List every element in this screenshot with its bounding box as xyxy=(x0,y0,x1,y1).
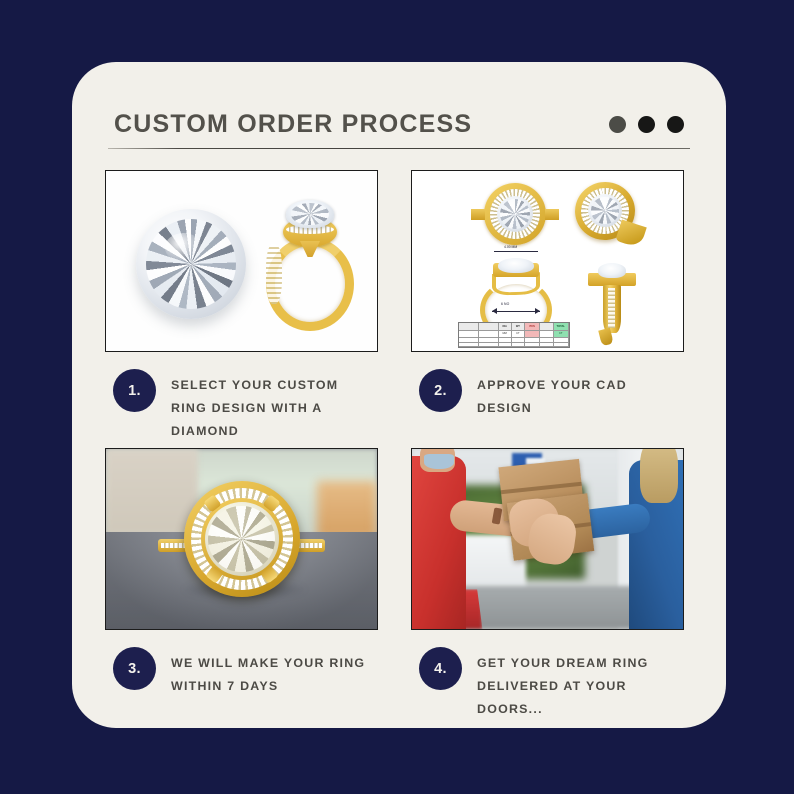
step-badge-4: 4. xyxy=(419,647,462,690)
table-row xyxy=(459,343,569,348)
face-mask-icon xyxy=(424,454,454,468)
header-divider xyxy=(108,148,690,149)
cad-front-stone xyxy=(598,263,626,278)
cell: PCS xyxy=(525,323,540,330)
photo-background-right xyxy=(317,481,377,539)
cell xyxy=(540,323,553,330)
cell: TOTAL xyxy=(554,323,569,330)
cell xyxy=(525,331,540,338)
table-row: DIAWT PCS TOTAL xyxy=(459,323,569,331)
ring-center-stone-shape xyxy=(286,200,334,228)
cad-top-arm-left xyxy=(471,209,485,220)
cad-spec-table: DIAWT PCS TOTAL MMCT CT xyxy=(458,322,570,348)
screenshot-stage: CUSTOM ORDER PROCESS xyxy=(0,0,794,794)
step-cell-4: 4. GET YOUR DREAM RING DELIVERED AT YOUR… xyxy=(411,448,684,726)
cad-top-arm-right xyxy=(545,209,559,220)
step-caption-4: 4. GET YOUR DREAM RING DELIVERED AT YOUR… xyxy=(411,630,684,726)
gold-ring-profile-graphic xyxy=(256,193,364,333)
cell xyxy=(479,343,499,347)
cell xyxy=(459,323,479,330)
dot-2-icon[interactable] xyxy=(638,116,655,133)
photo-background-left xyxy=(106,449,198,535)
step-text-3: WE WILL MAKE YOUR RING WITHIN 7 DAYS xyxy=(171,647,371,698)
courier-body xyxy=(412,456,466,629)
cell xyxy=(499,338,512,342)
cell xyxy=(479,331,499,338)
cell xyxy=(525,338,540,342)
cell xyxy=(540,343,553,347)
cell xyxy=(459,343,479,347)
custom-order-process-card: CUSTOM ORDER PROCESS xyxy=(72,62,726,728)
step-caption-3: 3. WE WILL MAKE YOUR RING WITHIN 7 DAYS xyxy=(105,630,378,726)
step-image-3[interactable] xyxy=(105,448,378,630)
step-image-4[interactable] xyxy=(411,448,684,630)
cell xyxy=(499,343,512,347)
cell xyxy=(554,343,569,347)
ring-halo-body xyxy=(184,481,300,597)
cell xyxy=(512,343,525,347)
steps-grid: 1. SELECT YOUR CUSTOM RING DESIGN WITH A… xyxy=(105,170,693,726)
loose-diamond-graphic xyxy=(136,209,246,319)
step-text-2: APPROVE YOUR CAD DESIGN xyxy=(477,369,677,420)
cad-dimension-label-top: 4.00 MM xyxy=(504,245,517,249)
window-dots xyxy=(609,116,684,133)
step-text-1: SELECT YOUR CUSTOM RING DESIGN WITH A DI… xyxy=(171,369,371,443)
cell xyxy=(512,338,525,342)
step-badge-2: 2. xyxy=(419,369,462,412)
cad-top-center-stone xyxy=(497,196,533,232)
step-caption-1: 1. SELECT YOUR CUSTOM RING DESIGN WITH A… xyxy=(105,352,378,448)
recipient-hair xyxy=(640,449,678,503)
cad-dimension-label-inner: 6 NO xyxy=(501,302,509,306)
cell xyxy=(554,338,569,342)
step-badge-1: 1. xyxy=(113,369,156,412)
cad-front-shank xyxy=(603,285,621,333)
cad-persp-stone xyxy=(588,194,622,227)
table-row: MMCT CT xyxy=(459,331,569,339)
card-header: CUSTOM ORDER PROCESS xyxy=(114,98,690,150)
cell xyxy=(479,323,499,330)
cell: CT xyxy=(512,331,525,338)
dot-3-icon[interactable] xyxy=(667,116,684,133)
step-caption-2: 2. APPROVE YOUR CAD DESIGN xyxy=(411,352,684,448)
cell: MM xyxy=(499,331,512,338)
cell xyxy=(459,331,479,338)
step-image-2[interactable]: 4.00 MM 6 NO xyxy=(411,170,684,352)
page-title: CUSTOM ORDER PROCESS xyxy=(114,110,472,139)
cad-top-view xyxy=(484,183,546,245)
cad-drawing-sheet: 4.00 MM 6 NO xyxy=(412,171,683,351)
cad-front-view xyxy=(584,259,640,347)
step-cell-2: 4.00 MM 6 NO xyxy=(411,170,684,448)
cell xyxy=(540,331,553,338)
step-text-4: GET YOUR DREAM RING DELIVERED AT YOUR DO… xyxy=(477,647,677,721)
cell xyxy=(540,338,553,342)
dot-1-icon[interactable] xyxy=(609,116,626,133)
cell: CT xyxy=(554,331,569,338)
step-cell-3: 3. WE WILL MAKE YOUR RING WITHIN 7 DAYS xyxy=(105,448,378,726)
delivery-handoff-photo xyxy=(412,449,683,629)
cell: WT xyxy=(512,323,525,330)
step-badge-3: 3. xyxy=(113,647,156,690)
step-image-1[interactable] xyxy=(105,170,378,352)
step-cell-1: 1. SELECT YOUR CUSTOM RING DESIGN WITH A… xyxy=(105,170,378,448)
cad-dimension-line-inner xyxy=(492,311,540,312)
cad-persp-shank xyxy=(615,220,647,249)
cell: DIA xyxy=(499,323,512,330)
finished-ring-photo xyxy=(106,449,377,629)
cell xyxy=(479,338,499,342)
cell xyxy=(525,343,540,347)
cell xyxy=(459,338,479,342)
cad-side-stone xyxy=(498,258,534,273)
cad-dimension-line-top xyxy=(494,251,538,252)
cad-perspective-view xyxy=(572,179,644,251)
ring-center-diamond xyxy=(205,502,279,576)
